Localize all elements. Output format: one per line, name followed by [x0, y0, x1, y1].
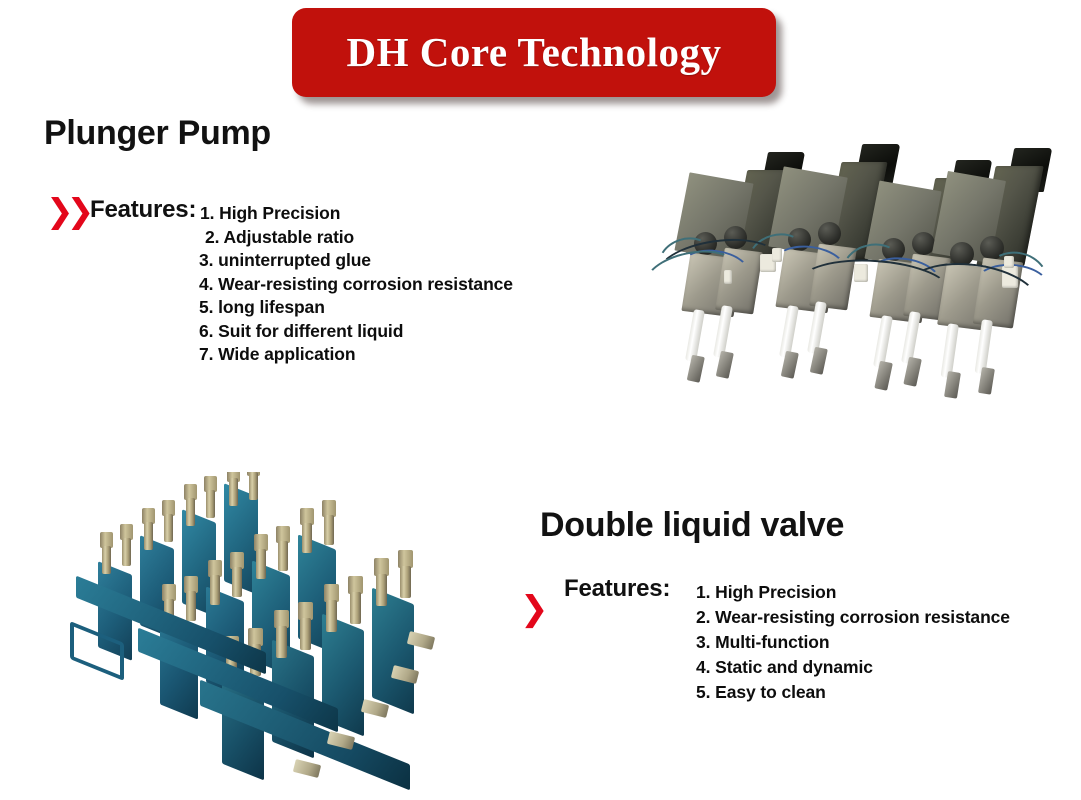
- list-item: 3. uninterrupted glue: [199, 249, 513, 273]
- list-item: 1. High Precision: [200, 202, 513, 226]
- double-liquid-valve-photo: [62, 472, 492, 794]
- list-item: 2. Wear-resisting corrosion resistance: [696, 605, 1010, 630]
- list-item: 7. Wide application: [199, 343, 513, 367]
- list-item: 4. Static and dynamic: [696, 655, 1010, 680]
- section-heading-plunger-pump: Plunger Pump: [44, 114, 271, 153]
- bullet-chevron-right-icon: ❯: [520, 592, 549, 626]
- features-label-plunger-pump: Features:: [90, 196, 196, 224]
- plunger-pump-photo: [648, 132, 1072, 422]
- title-banner: DH Core Technology: [292, 8, 776, 97]
- feature-list-double-liquid-valve: 1. High Precision 2. Wear-resisting corr…: [696, 580, 1010, 705]
- section-heading-double-liquid-valve: Double liquid valve: [540, 506, 844, 545]
- list-item: 6. Suit for different liquid: [199, 320, 513, 344]
- bullet-double-chevron-right-icon: ❯ ❯: [46, 194, 87, 227]
- list-item: 3. Multi-function: [696, 630, 1010, 655]
- list-item: 2. Adjustable ratio: [205, 226, 513, 250]
- feature-list-plunger-pump: 1. High Precision 2. Adjustable ratio 3.…: [204, 202, 513, 367]
- page-title: DH Core Technology: [347, 32, 722, 73]
- features-label-double-liquid-valve: Features:: [564, 575, 670, 603]
- list-item: 5. long lifespan: [199, 296, 513, 320]
- list-item: 5. Easy to clean: [696, 680, 1010, 705]
- chevron-right-icon: ❯: [520, 592, 549, 626]
- list-item: 4. Wear-resisting corrosion resistance: [199, 273, 513, 297]
- list-item: 1. High Precision: [696, 580, 1010, 605]
